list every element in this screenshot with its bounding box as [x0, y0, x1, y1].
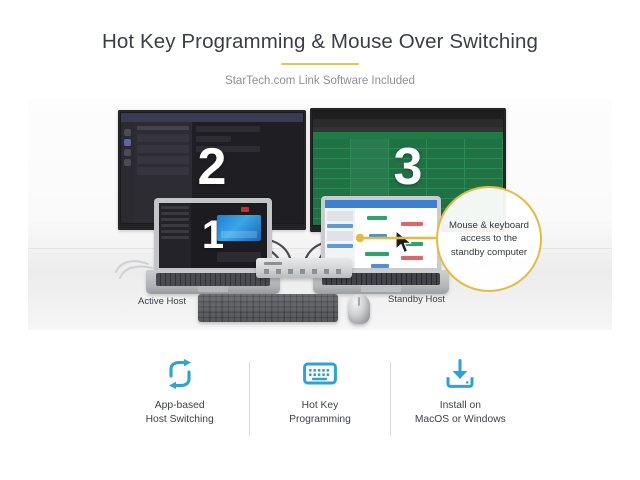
laptop-active-host: 1 — [146, 198, 280, 294]
feature-caption-line1: App-based — [146, 399, 214, 413]
header: Hot Key Programming & Mouse Over Switchi… — [0, 0, 640, 87]
product-scene-photo: 2 — [28, 98, 612, 330]
calendar-event — [369, 234, 387, 238]
sidebar-line — [161, 236, 189, 239]
feature-hot-key-programming: Hot Key Programming — [250, 358, 389, 427]
laptop-1-lid: 1 — [154, 198, 272, 272]
page-subtitle: StarTech.com Link Software Included — [0, 75, 640, 87]
app-sidebar — [159, 203, 191, 268]
calendar-event — [371, 264, 389, 268]
calendar-event — [401, 222, 423, 226]
wireless-mouse[interactable] — [348, 294, 370, 324]
sidebar-accent — [327, 224, 353, 228]
wireless-keyboard[interactable] — [198, 294, 338, 322]
feature-caption-line2: Programming — [289, 413, 351, 427]
keyboard-icon — [303, 358, 337, 390]
calendar-grid — [355, 208, 437, 268]
sidebar-line — [161, 206, 189, 209]
label-standby-host: Standby Host — [388, 294, 445, 305]
feature-caption: Hot Key Programming — [289, 399, 351, 427]
page-title: Hot Key Programming & Mouse Over Switchi… — [0, 0, 640, 54]
feature-caption-line1: Install on — [415, 399, 506, 413]
laptop-standby-host — [313, 196, 449, 294]
calendar-event — [367, 216, 387, 220]
label-active-host: Active Host — [138, 296, 186, 307]
feature-app-based-host-switching: App-based Host Switching — [110, 358, 249, 427]
record-indicator — [241, 207, 249, 212]
calendar-event — [365, 252, 389, 256]
mini-month — [327, 211, 353, 221]
callout-bubble: Mouse & keyboard access to the standby c… — [436, 186, 542, 292]
product-feature-graphic: Hot Key Programming & Mouse Over Switchi… — [0, 0, 640, 480]
feature-caption: Install on MacOS or Windows — [415, 399, 506, 427]
feature-caption: App-based Host Switching — [146, 399, 214, 427]
feature-caption-line2: MacOS or Windows — [415, 413, 506, 427]
sidebar-line — [161, 212, 189, 215]
calendar-event — [401, 256, 423, 260]
swap-arrows-icon — [164, 358, 196, 390]
laptop-1-screen: 1 — [159, 203, 267, 268]
laptop-1-trackpad[interactable] — [198, 286, 228, 292]
callout-text: Mouse & keyboard access to the standby c… — [438, 219, 540, 260]
sidebar-line — [161, 224, 189, 227]
feature-caption-line2: Host Switching — [146, 413, 214, 427]
sidebar-line — [161, 230, 189, 233]
calendar-titlebar — [325, 200, 437, 208]
sidebar-line — [161, 218, 189, 221]
laptop-1-number: 1 — [202, 215, 224, 255]
feature-row: App-based Host Switching — [110, 358, 530, 450]
feature-install-on-macos-or-windows: Install on MacOS or Windows — [391, 358, 530, 427]
kvm-docking-station — [256, 258, 352, 278]
download-icon — [444, 358, 476, 390]
laptop-2-trackpad[interactable] — [361, 285, 401, 292]
title-underline-rule — [281, 63, 359, 65]
sidebar-accent — [327, 244, 353, 248]
dock-brand-logo — [264, 262, 282, 265]
dock-ports — [264, 269, 344, 274]
laptop-1-keyboard[interactable] — [156, 273, 270, 286]
feature-caption-line1: Hot Key — [289, 399, 351, 413]
sidebar-block — [327, 231, 353, 241]
